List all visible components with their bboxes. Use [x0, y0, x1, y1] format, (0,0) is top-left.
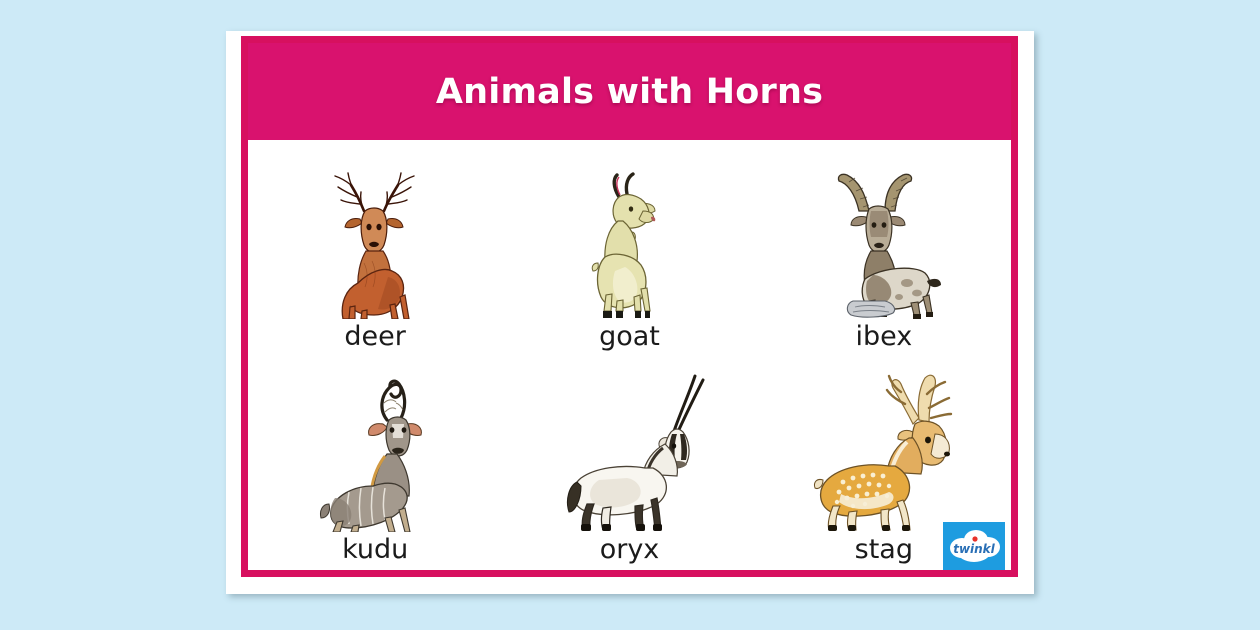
animal-row: deer	[248, 144, 1011, 357]
poster-frame: Animals with Horns	[241, 36, 1018, 577]
twinkl-dot	[972, 536, 977, 541]
page-title: Animals with Horns	[436, 72, 823, 112]
poster-body: deer	[248, 140, 1011, 570]
animal-label: kudu	[342, 532, 408, 568]
twinkl-logo[interactable]: twinkl	[943, 522, 1005, 570]
animal-label: goat	[599, 319, 660, 355]
animal-label: stag	[855, 532, 913, 568]
twinkl-wordmark: twinkl	[953, 542, 995, 556]
animal-cell-kudu[interactable]: kudu	[248, 357, 502, 570]
poster-card: Animals with Horns	[226, 31, 1034, 594]
deer-illustration	[248, 144, 502, 319]
animal-cell-oryx[interactable]: oryx	[502, 357, 756, 570]
oryx-illustration	[502, 357, 756, 532]
animal-label: oryx	[600, 532, 660, 568]
ibex-illustration	[757, 144, 1011, 319]
animal-label: ibex	[855, 319, 912, 355]
animal-cell-goat[interactable]: goat	[502, 144, 756, 357]
poster-header: Animals with Horns	[248, 43, 1011, 140]
animal-row: kudu	[248, 357, 1011, 570]
animal-cell-ibex[interactable]: ibex	[757, 144, 1011, 357]
goat-illustration	[502, 144, 756, 319]
kudu-illustration	[248, 357, 502, 532]
animal-cell-deer[interactable]: deer	[248, 144, 502, 357]
stag-illustration	[757, 357, 1011, 532]
animal-label: deer	[344, 319, 405, 355]
